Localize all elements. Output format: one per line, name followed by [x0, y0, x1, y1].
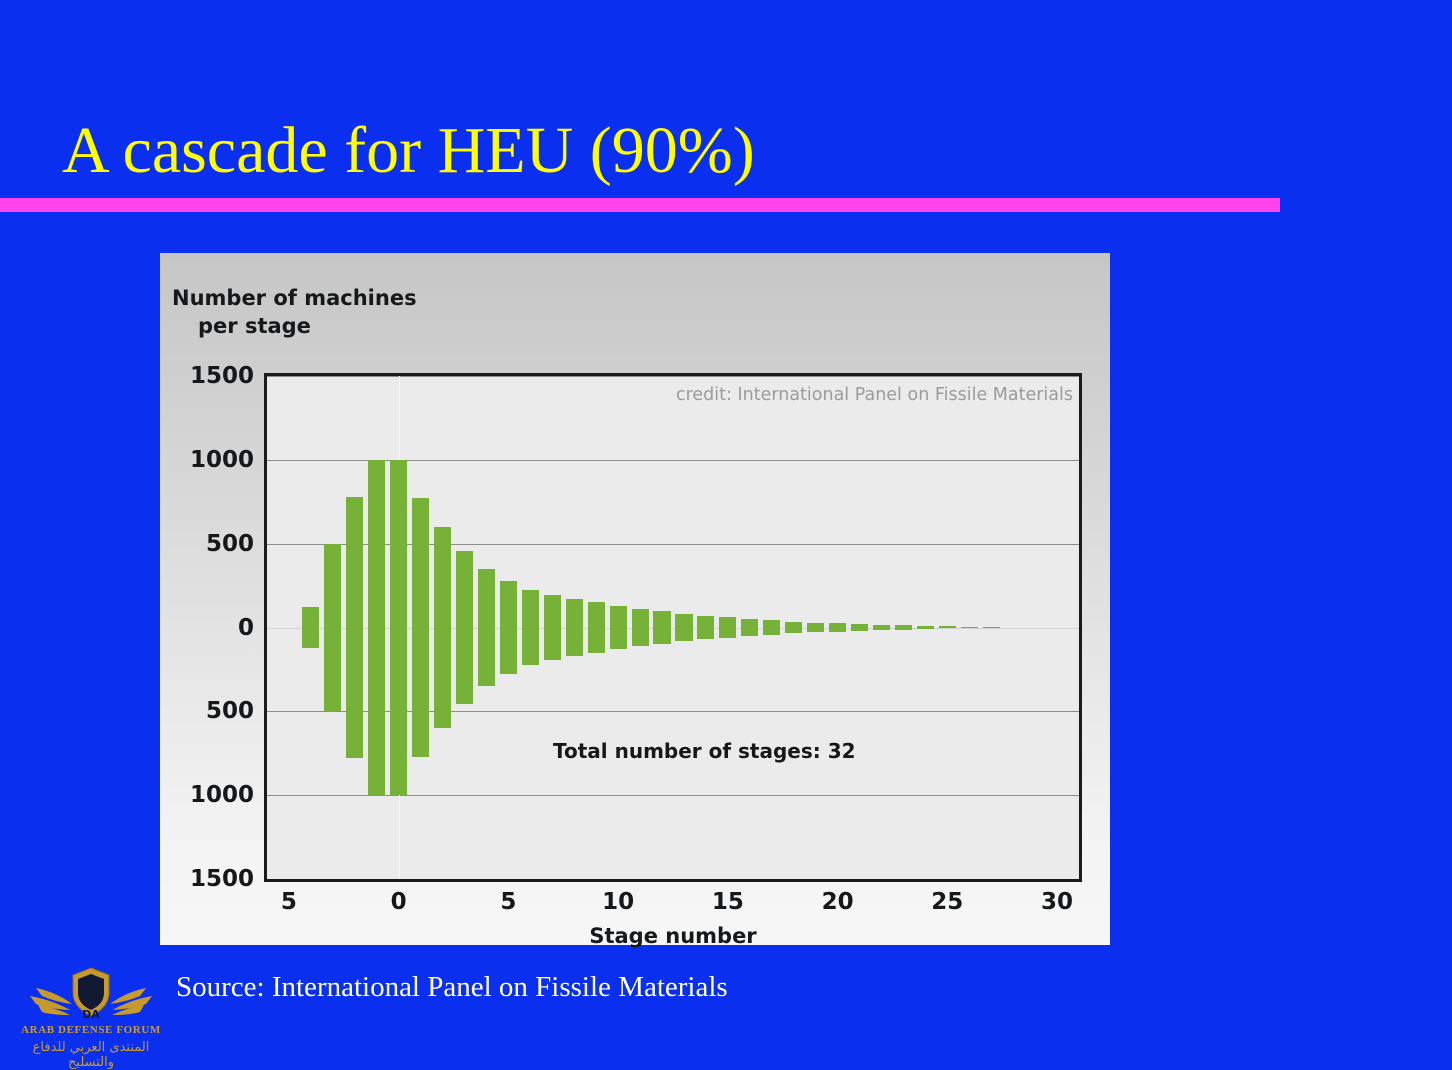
gridline-y-500	[267, 544, 1079, 545]
y-axis-caption-line2: per stage	[172, 313, 417, 341]
bar-stage-8	[566, 599, 583, 656]
x-tick-10: 10	[602, 889, 634, 915]
x-tick-25: 25	[931, 889, 963, 915]
chart-credit-label: credit: International Panel on Fissile M…	[676, 385, 1073, 405]
watermark-english-label: ARAB DEFENSE FORUM	[16, 1024, 166, 1036]
bar-stage-21	[851, 624, 868, 630]
watermark-arabic-label: المنتدى العربي للدفاع والتسليح	[16, 1040, 166, 1070]
y-axis-caption: Number of machines per stage	[172, 285, 417, 340]
bar-stage-0	[390, 460, 407, 795]
bar-stage-24	[917, 626, 934, 629]
bar-stage-15	[719, 617, 736, 637]
bar-stage-16	[741, 619, 758, 636]
y-tick--1500: 1500	[190, 866, 254, 892]
x-tick-20: 20	[822, 889, 854, 915]
gridline-y--500	[267, 711, 1079, 712]
y-tick-500: 500	[206, 531, 254, 557]
y-tick--500: 500	[206, 698, 254, 724]
bar-stage-11	[632, 609, 649, 647]
bar-stage-20	[829, 623, 846, 631]
bar-stage-6	[522, 590, 539, 665]
bar-stage-22	[873, 625, 890, 630]
gridline-y-1500	[267, 376, 1079, 377]
y-tick-1000: 1000	[190, 447, 254, 473]
y-tick-1500: 1500	[190, 363, 254, 389]
y-axis-caption-line1: Number of machines	[172, 286, 417, 310]
x-tick-0: 0	[391, 889, 407, 915]
bar-stage-1	[412, 498, 429, 758]
x-tick-15: 15	[712, 889, 744, 915]
bar-stage-14	[697, 616, 714, 639]
bar-stage-2	[434, 527, 451, 728]
bar-stage-7	[544, 595, 561, 660]
plot-area: credit: International Panel on Fissile M…	[264, 373, 1082, 882]
x-tick-5: 5	[500, 889, 516, 915]
svg-text:DA: DA	[82, 1008, 100, 1021]
bar-stage--1	[368, 460, 385, 795]
x-axis-title: Stage number	[264, 924, 1082, 948]
bar-stage-23	[895, 625, 912, 629]
bar-stage-27	[983, 627, 1000, 628]
bar-stage-10	[610, 606, 627, 650]
y-tick-0: 0	[238, 615, 254, 641]
gridline-y-0	[267, 628, 1079, 629]
bar-stage--4	[302, 607, 319, 647]
bar-stage-9	[588, 602, 605, 652]
gridline-y-1000	[267, 460, 1079, 461]
chart-figure-panel: Number of machines per stage 15001000500…	[160, 253, 1110, 945]
x-tick--5: 5	[281, 889, 297, 915]
bar-stage-5	[500, 581, 517, 675]
x-tick-30: 30	[1041, 889, 1073, 915]
arab-defense-forum-watermark: DA ARAB DEFENSE FORUM المنتدى العربي للد…	[16, 962, 166, 1062]
total-stages-annotation: Total number of stages: 32	[553, 739, 856, 763]
bar-stage-13	[675, 614, 692, 641]
bar-stage--2	[346, 497, 363, 759]
y-tick--1000: 1000	[190, 782, 254, 808]
gridline-y--1000	[267, 795, 1079, 796]
bar-stage-3	[456, 551, 473, 704]
bar-stage-4	[478, 569, 495, 686]
page-title: A cascade for HEU (90%)	[62, 118, 755, 184]
bar-stage-18	[785, 622, 802, 634]
bar-stage-12	[653, 611, 670, 643]
bar-stage-17	[763, 620, 780, 634]
title-divider-rule	[0, 198, 1280, 212]
bar-stage--3	[324, 544, 341, 712]
bar-stage-26	[961, 627, 978, 628]
shield-wings-logo-icon: DA	[16, 962, 166, 1028]
bar-stage-25	[939, 626, 956, 628]
source-note: Source: International Panel on Fissile M…	[176, 971, 728, 1004]
gridline-y--1500	[267, 879, 1079, 880]
bar-stage-19	[807, 623, 824, 633]
